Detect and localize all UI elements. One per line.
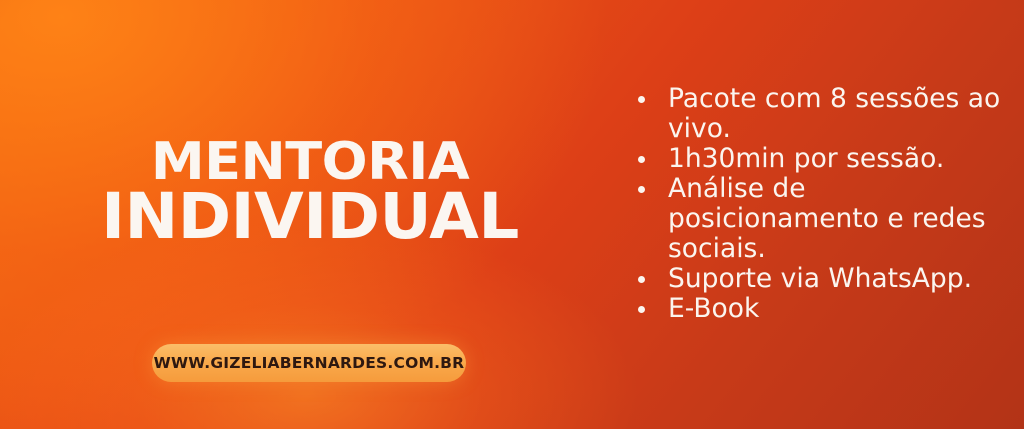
website-url-pill[interactable]: WWW.GIZELIABERNARDES.COM.BR bbox=[152, 344, 466, 382]
promo-banner: MENTORIA INDIVIDUAL WWW.GIZELIABERNARDES… bbox=[0, 0, 1024, 429]
title-block: MENTORIA INDIVIDUAL bbox=[0, 138, 620, 247]
list-item: Suporte via WhatsApp. bbox=[636, 264, 1008, 294]
features-list: Pacote com 8 sessões ao vivo. 1h30min po… bbox=[636, 84, 1008, 324]
page-title-line-1: MENTORIA bbox=[0, 138, 632, 186]
website-url-label: WWW.GIZELIABERNARDES.COM.BR bbox=[154, 354, 465, 372]
page-title-line-2: INDIVIDUAL bbox=[0, 188, 626, 247]
list-item: Análise de posicionamento e redes sociai… bbox=[636, 174, 1008, 264]
list-item: Pacote com 8 sessões ao vivo. bbox=[636, 84, 1008, 144]
list-item: E-Book bbox=[636, 294, 1008, 324]
list-item: 1h30min por sessão. bbox=[636, 144, 1008, 174]
